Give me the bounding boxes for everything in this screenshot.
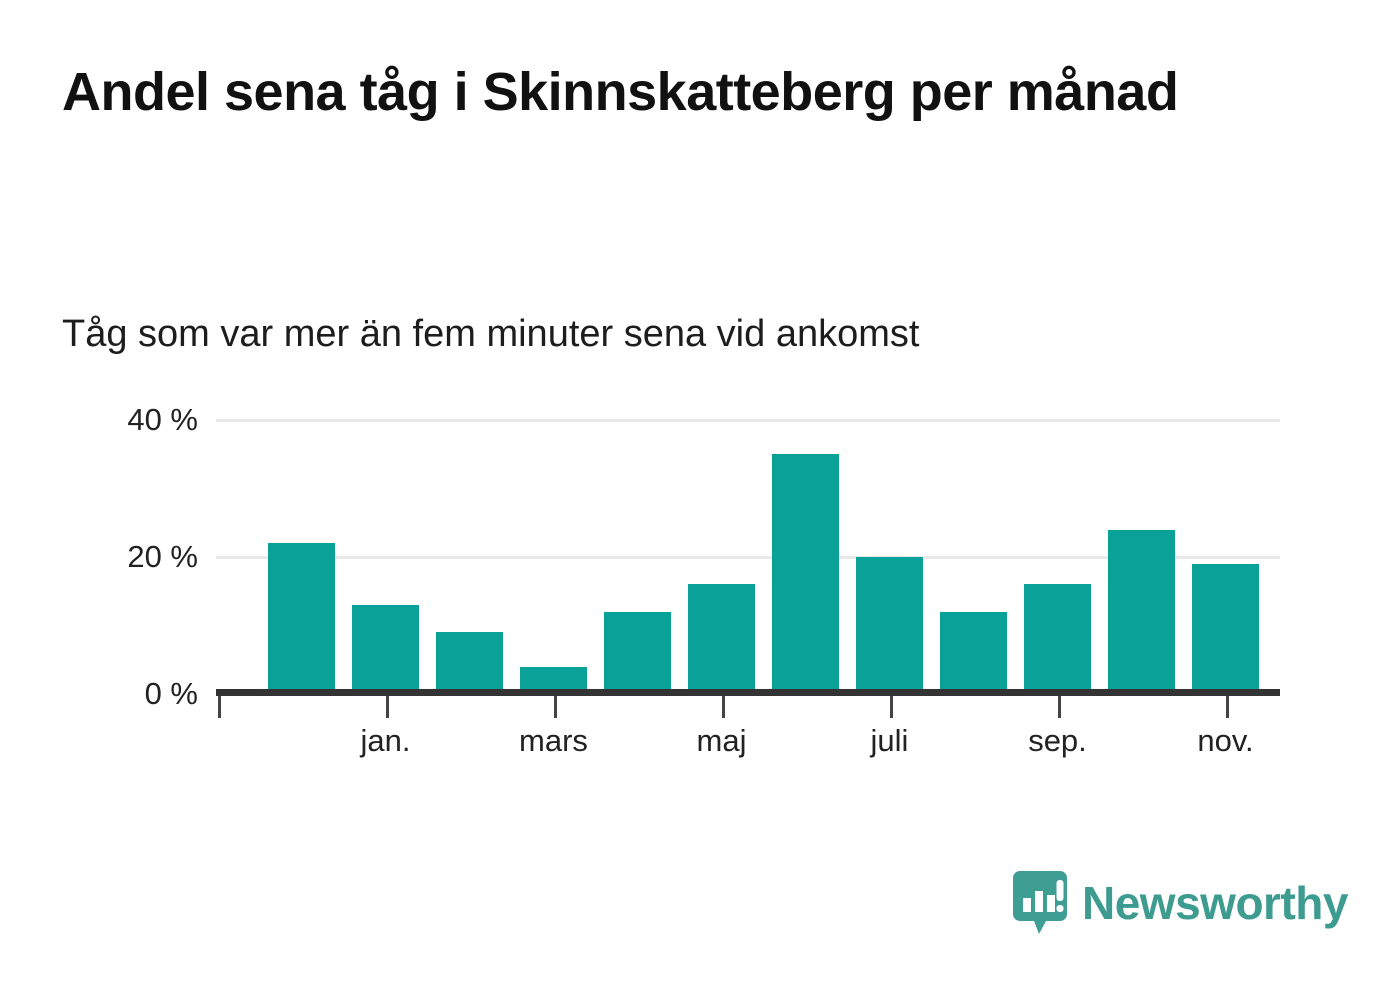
newsworthy-bubble-chart-icon	[1012, 870, 1068, 936]
plot-area	[216, 395, 1280, 694]
y-axis-tick-label: 40 %	[58, 404, 198, 435]
x-axis-tick	[386, 696, 389, 718]
bar[interactable]	[268, 543, 335, 694]
bar[interactable]	[688, 584, 755, 694]
x-axis-tick-label: sep.	[978, 725, 1138, 756]
page-title: Andel sena tåg i Skinnskatteberg per mån…	[62, 62, 1272, 123]
x-axis-tick	[890, 696, 893, 718]
x-axis-tick-label: jan.	[306, 725, 466, 756]
bar[interactable]	[1024, 584, 1091, 694]
gridline	[216, 419, 1280, 422]
newsworthy-logo[interactable]: Newsworthy	[1012, 870, 1348, 936]
bar[interactable]	[352, 605, 419, 694]
x-axis-line	[216, 689, 1280, 696]
x-axis-tick	[218, 696, 221, 718]
y-axis-tick-label: 20 %	[58, 541, 198, 572]
bar-chart: 0 %20 %40 % jan.marsmajjulisep.nov.	[0, 395, 1382, 795]
bar[interactable]	[1108, 530, 1175, 694]
bar[interactable]	[772, 454, 839, 694]
x-axis-tick-label: mars	[474, 725, 634, 756]
y-axis-tick-label: 0 %	[58, 678, 198, 709]
x-axis-tick-label: juli	[810, 725, 970, 756]
bar[interactable]	[436, 632, 503, 694]
x-axis-tick	[554, 696, 557, 718]
x-axis-tick	[722, 696, 725, 718]
bar[interactable]	[940, 612, 1007, 694]
x-axis-tick	[1058, 696, 1061, 718]
chart-page: Andel sena tåg i Skinnskatteberg per mån…	[0, 0, 1382, 999]
x-axis-tick-label: maj	[642, 725, 802, 756]
newsworthy-wordmark: Newsworthy	[1082, 880, 1348, 926]
bar[interactable]	[604, 612, 671, 694]
bar[interactable]	[1192, 564, 1259, 694]
bar[interactable]	[856, 557, 923, 694]
x-axis-tick-label: nov.	[1146, 725, 1306, 756]
x-axis-tick	[1226, 696, 1229, 718]
chart-subtitle: Tåg som var mer än fem minuter sena vid …	[62, 312, 1302, 358]
